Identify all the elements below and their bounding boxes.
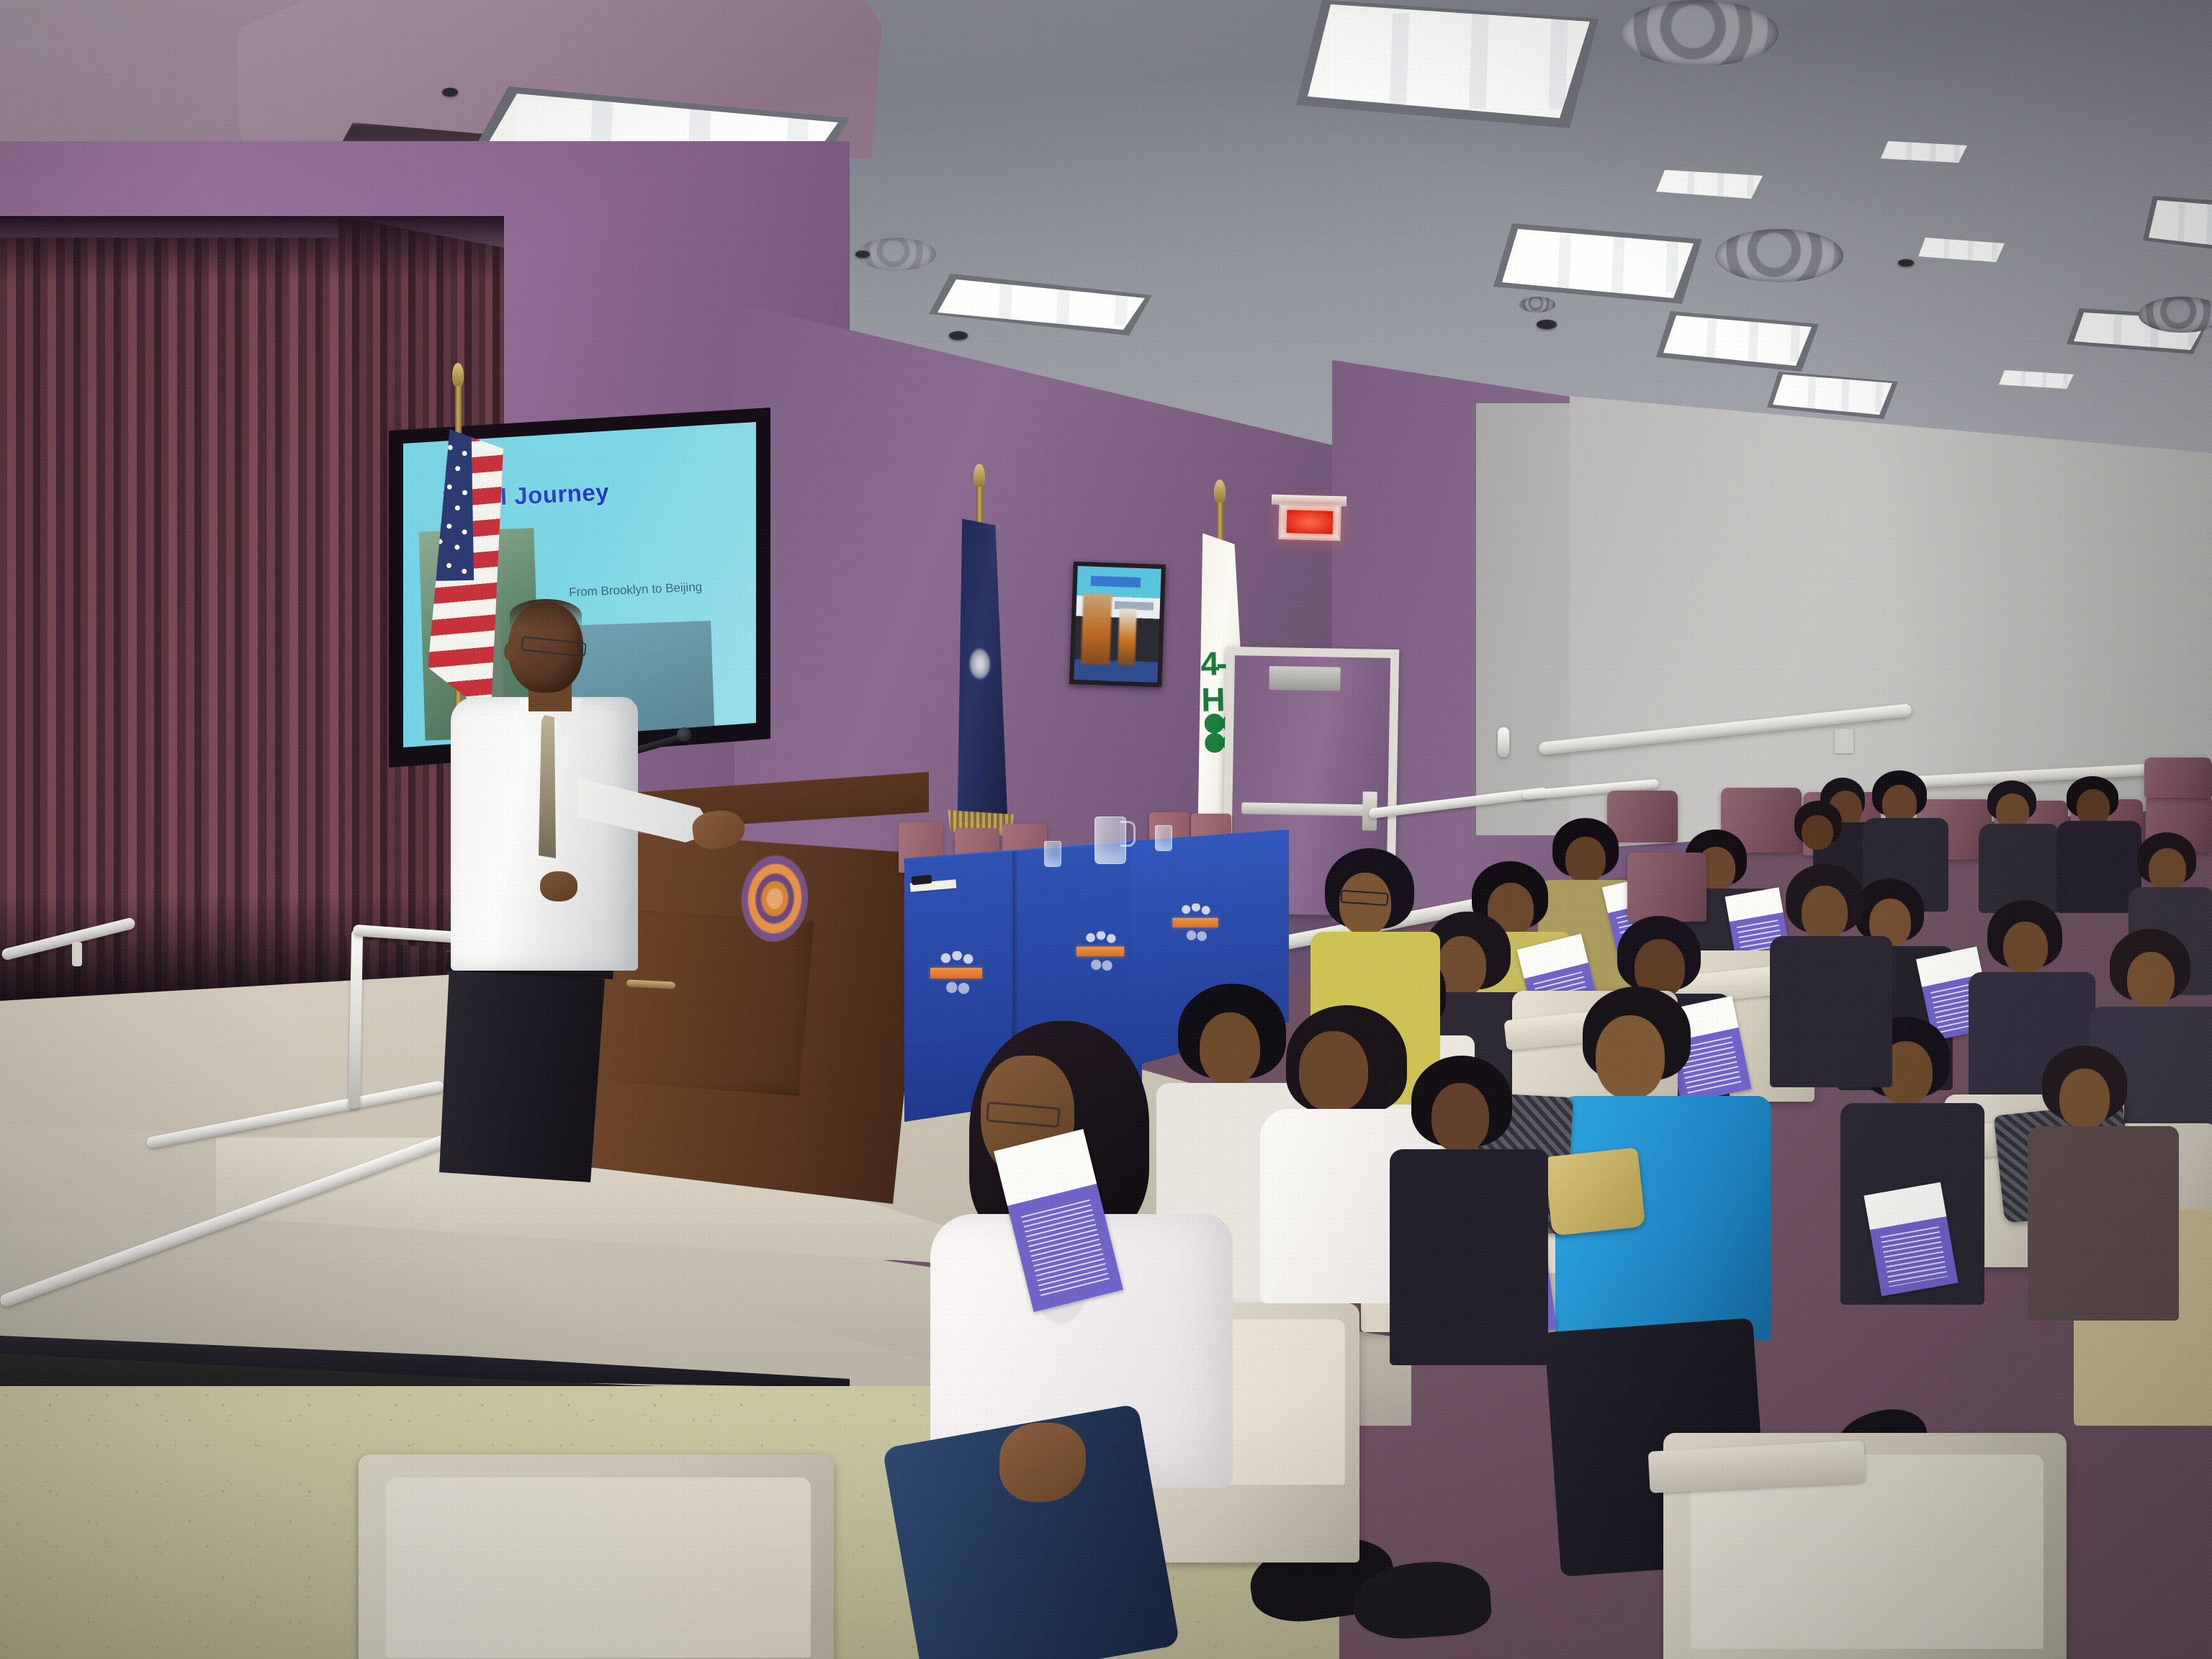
presenter bbox=[408, 598, 710, 1174]
tote-bag[interactable] bbox=[1545, 1148, 1646, 1236]
ceiling-speaker-icon bbox=[1537, 320, 1557, 329]
flagpole-finial bbox=[1214, 480, 1226, 504]
ceiling-speaker-icon bbox=[949, 331, 968, 340]
table-skirt-logo bbox=[1076, 930, 1124, 974]
person-torso bbox=[1979, 824, 2059, 913]
person-head bbox=[2149, 848, 2186, 891]
ceiling-speaker-icon bbox=[1898, 259, 1914, 266]
person-head bbox=[2127, 952, 2175, 1008]
flagpole-finial bbox=[452, 363, 464, 387]
air-diffuser bbox=[1620, 0, 1779, 66]
wall-mounted-display bbox=[1069, 562, 1166, 687]
person-head bbox=[1802, 815, 1833, 850]
presenter-hand bbox=[540, 871, 577, 902]
person-torso bbox=[1390, 1149, 1548, 1365]
person-head bbox=[1299, 1031, 1368, 1112]
handrail-bracket bbox=[72, 942, 82, 966]
display-photo-right bbox=[1118, 608, 1136, 666]
seat-back[interactable] bbox=[2144, 757, 2212, 798]
table-skirt-logo bbox=[1172, 902, 1218, 943]
air-diffuser bbox=[1715, 229, 1843, 282]
display-screen bbox=[1074, 566, 1161, 683]
table-skirt-logo bbox=[930, 949, 982, 997]
person-head bbox=[1802, 886, 1848, 940]
aisle-railing-post bbox=[1498, 727, 1509, 757]
flagpole-finial bbox=[974, 464, 985, 488]
display-photo-left bbox=[1081, 593, 1112, 665]
door-push-bar[interactable] bbox=[1241, 802, 1369, 816]
person-head bbox=[1596, 1015, 1665, 1099]
seat-back[interactable] bbox=[1607, 791, 1678, 842]
wall-outlet-plate bbox=[1835, 729, 1853, 753]
air-diffuser bbox=[1519, 297, 1555, 313]
person-torso bbox=[2028, 1126, 2179, 1321]
person-head bbox=[2003, 922, 2048, 974]
logo-banner bbox=[1172, 918, 1218, 927]
presenter-legs bbox=[439, 966, 605, 1182]
ceiling-speaker-icon bbox=[442, 88, 458, 96]
person-torso bbox=[1770, 936, 1892, 1087]
person-head bbox=[1431, 1083, 1489, 1152]
state-flag-seal bbox=[968, 648, 991, 680]
presenter-ear bbox=[504, 642, 517, 661]
drinking-glass[interactable] bbox=[1155, 825, 1172, 851]
exit-sign bbox=[1278, 503, 1341, 541]
curtain-top-shadow bbox=[0, 216, 504, 281]
logo-banner bbox=[1076, 947, 1124, 956]
person-head bbox=[2059, 1069, 2110, 1129]
seat-back[interactable] bbox=[1627, 853, 1707, 922]
presenter-necktie bbox=[539, 714, 556, 858]
display-title-text bbox=[1090, 575, 1141, 588]
door-closer-icon bbox=[1269, 666, 1341, 691]
presenter-hair bbox=[510, 599, 582, 631]
logo-banner bbox=[930, 968, 982, 979]
pitcher-handle bbox=[1120, 821, 1136, 847]
person-head bbox=[1565, 837, 1606, 883]
seat-cushion[interactable] bbox=[386, 1478, 811, 1658]
exit-sign-glow bbox=[1287, 510, 1334, 534]
person-hand bbox=[999, 1423, 1086, 1502]
auditorium-scene: My CI Journey From Brooklyn to Beijing 4… bbox=[0, 0, 2212, 1659]
person-head bbox=[1200, 1012, 1260, 1084]
ceiling-speaker-icon bbox=[855, 251, 870, 258]
drinking-glass[interactable] bbox=[1044, 841, 1061, 867]
